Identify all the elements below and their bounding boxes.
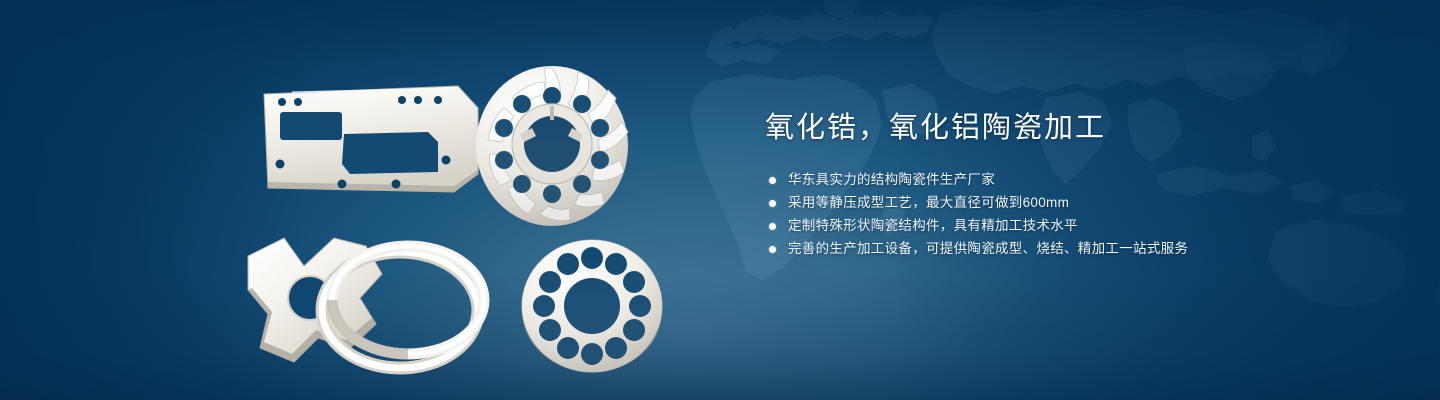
feature-list: 华东具实力的结构陶瓷件生产厂家 采用等静压成型工艺，最大直径可做到600mm 定… [765, 170, 1385, 259]
banner-copy: 氧化锆，氧化铝陶瓷加工 华东具实力的结构陶瓷件生产厂家 采用等静压成型工艺，最大… [765, 108, 1385, 262]
list-item: 定制特殊形状陶瓷结构件，具有精加工技术水平 [765, 216, 1385, 236]
feature-text: 采用等静压成型工艺，最大直径可做到600mm [788, 193, 1069, 213]
ceramic-products-image [232, 42, 712, 382]
ceramic-perforated-disc [522, 240, 662, 372]
bullet-dot-icon [769, 200, 776, 207]
bullet-dot-icon [769, 177, 776, 184]
list-item: 华东具实力的结构陶瓷件生产厂家 [765, 170, 1385, 190]
bullet-dot-icon [769, 246, 776, 253]
hero-banner: 氧化锆，氧化铝陶瓷加工 华东具实力的结构陶瓷件生产厂家 采用等静压成型工艺，最大… [0, 0, 1440, 400]
ceramic-machined-plate [264, 86, 478, 192]
ceramic-impeller-wheel [476, 66, 628, 226]
banner-headline: 氧化锆，氧化铝陶瓷加工 [765, 108, 1385, 148]
feature-text: 华东具实力的结构陶瓷件生产厂家 [788, 170, 995, 190]
feature-text: 定制特殊形状陶瓷结构件，具有精加工技术水平 [788, 216, 1078, 236]
bullet-dot-icon [769, 223, 776, 230]
feature-text: 完善的生产加工设备，可提供陶瓷成型、烧结、精加工一站式服务 [788, 239, 1188, 259]
list-item: 完善的生产加工设备，可提供陶瓷成型、烧结、精加工一站式服务 [765, 239, 1385, 259]
list-item: 采用等静压成型工艺，最大直径可做到600mm [765, 193, 1385, 213]
